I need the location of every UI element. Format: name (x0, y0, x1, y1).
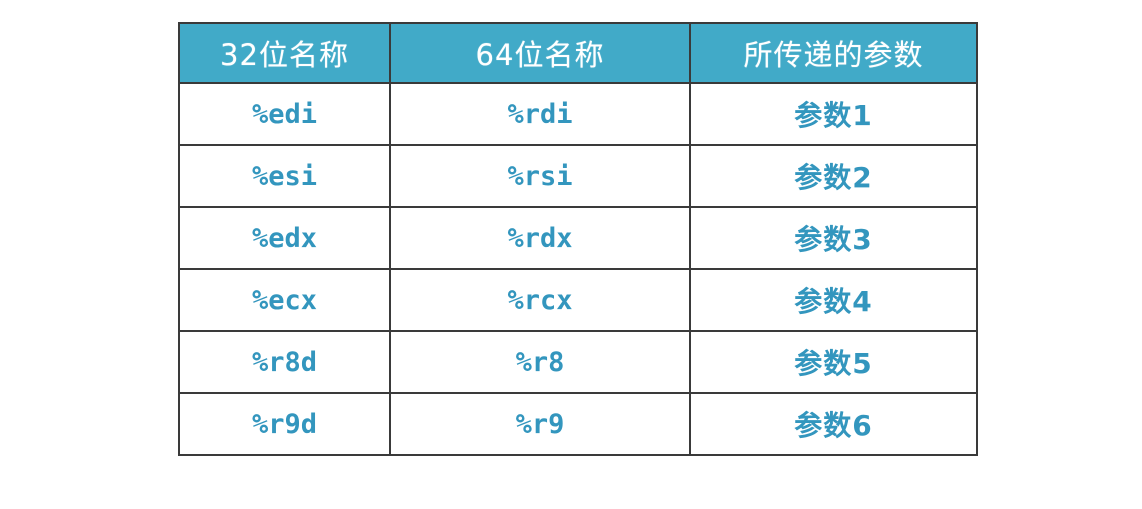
register-argument-table: 32位名称 64位名称 所传递的参数 %edi %rdi 参数1 %esi %r… (178, 22, 978, 456)
cell-argument: 参数6 (690, 393, 977, 455)
cell-32bit-name: %ecx (179, 269, 390, 331)
cell-32bit-name: %edx (179, 207, 390, 269)
cell-64bit-name: %rcx (390, 269, 690, 331)
cell-64bit-name: %rdx (390, 207, 690, 269)
page-canvas: 32位名称 64位名称 所传递的参数 %edi %rdi 参数1 %esi %r… (0, 0, 1142, 509)
cell-64bit-name: %rdi (390, 83, 690, 145)
table-row: %esi %rsi 参数2 (179, 145, 977, 207)
column-header-32bit-name: 32位名称 (179, 23, 390, 83)
cell-32bit-name: %r8d (179, 331, 390, 393)
cell-32bit-name: %edi (179, 83, 390, 145)
cell-32bit-name: %esi (179, 145, 390, 207)
table-header-row: 32位名称 64位名称 所传递的参数 (179, 23, 977, 83)
cell-argument: 参数1 (690, 83, 977, 145)
table-header: 32位名称 64位名称 所传递的参数 (179, 23, 977, 83)
table-row: %edx %rdx 参数3 (179, 207, 977, 269)
cell-argument: 参数3 (690, 207, 977, 269)
column-header-64bit-name: 64位名称 (390, 23, 690, 83)
table-row: %r8d %r8 参数5 (179, 331, 977, 393)
cell-argument: 参数4 (690, 269, 977, 331)
cell-argument: 参数5 (690, 331, 977, 393)
cell-64bit-name: %r8 (390, 331, 690, 393)
column-header-argument: 所传递的参数 (690, 23, 977, 83)
table-row: %edi %rdi 参数1 (179, 83, 977, 145)
table-row: %ecx %rcx 参数4 (179, 269, 977, 331)
cell-32bit-name: %r9d (179, 393, 390, 455)
cell-64bit-name: %rsi (390, 145, 690, 207)
table-row: %r9d %r9 参数6 (179, 393, 977, 455)
table-body: %edi %rdi 参数1 %esi %rsi 参数2 %edx %rdx 参数… (179, 83, 977, 455)
cell-64bit-name: %r9 (390, 393, 690, 455)
cell-argument: 参数2 (690, 145, 977, 207)
